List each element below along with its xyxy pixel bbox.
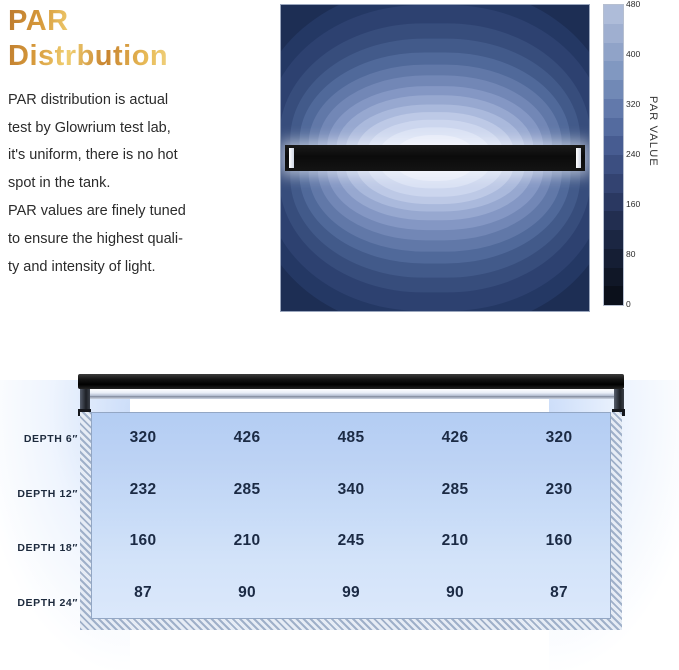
par-value-cell: 230 xyxy=(546,481,573,499)
colorbar-segment xyxy=(604,5,623,24)
par-value-cell: 320 xyxy=(546,429,573,447)
colorbar-segment xyxy=(604,118,623,137)
tank-par-diagram: 3204264854263202322853402852301602102452… xyxy=(0,330,679,660)
colorbar-tick: 240 xyxy=(626,149,640,159)
light-bar-icon xyxy=(285,145,585,171)
par-value-cell: 340 xyxy=(338,481,365,499)
par-value-cell: 99 xyxy=(342,584,360,602)
light-bar-end-cap-left xyxy=(289,148,294,168)
par-value-cell: 90 xyxy=(446,584,464,602)
par-value-cell: 87 xyxy=(134,584,152,602)
colorbar-segment xyxy=(604,249,623,268)
par-value-cell: 160 xyxy=(130,532,157,550)
depth-label-row-3: DEPTH 18″ xyxy=(17,542,78,554)
par-distribution-heatmap xyxy=(280,4,590,312)
colorbar-tick: 320 xyxy=(626,99,640,109)
colorbar-segment xyxy=(604,43,623,62)
par-value-cell: 210 xyxy=(234,532,261,550)
par-value-cell: 87 xyxy=(550,584,568,602)
colorbar-segment xyxy=(604,80,623,99)
depth-label-row-4: DEPTH 24″ xyxy=(17,597,78,609)
colorbar-segment xyxy=(604,230,623,249)
par-value-cell: 160 xyxy=(546,532,573,550)
par-value-cell: 426 xyxy=(442,429,469,447)
depth-label-row-1: DEPTH 6″ xyxy=(24,433,78,445)
colorbar-segment xyxy=(604,286,623,305)
par-value-cell: 426 xyxy=(234,429,261,447)
colorbar-tick: 80 xyxy=(626,249,635,259)
aquarium-light-fixture xyxy=(78,374,624,389)
colorbar-segment xyxy=(604,211,623,230)
colorbar-tick: 0 xyxy=(626,299,631,309)
page-title: PAR Distrbution xyxy=(6,0,268,75)
colorbar-segment xyxy=(604,99,623,118)
colorbar-segment xyxy=(604,155,623,174)
par-distribution-top-section: PAR Distrbution PAR distribution is actu… xyxy=(0,0,679,330)
colorbar-legend: 480400320240160800 PAR VALUE xyxy=(603,4,679,310)
par-value-cell: 320 xyxy=(130,429,157,447)
light-bar-end-cap-right xyxy=(576,148,581,168)
colorbar-gradient xyxy=(603,4,624,306)
par-value-cell: 232 xyxy=(130,481,157,499)
light-fixture-lens xyxy=(88,389,616,396)
colorbar-segment xyxy=(604,136,623,155)
intro-paragraph: PAR distribution is actual test by Glowr… xyxy=(6,75,268,282)
aquarium-tank: 3204264854263202322853402852301602102452… xyxy=(80,412,622,630)
colorbar-tick: 400 xyxy=(626,49,640,59)
par-value-cell: 90 xyxy=(238,584,256,602)
colorbar-segment xyxy=(604,268,623,287)
colorbar-segment xyxy=(604,61,623,80)
par-value-cell: 245 xyxy=(338,532,365,550)
light-fixture-rim xyxy=(88,396,616,399)
par-value-cell: 285 xyxy=(442,481,469,499)
depth-label-row-2: DEPTH 12″ xyxy=(17,488,78,500)
par-value-cell: 210 xyxy=(442,532,469,550)
par-value-grid: 3204264854263202322853402852301602102452… xyxy=(91,412,611,619)
colorbar-segment xyxy=(604,174,623,193)
colorbar-tick: 160 xyxy=(626,199,640,209)
colorbar-segment xyxy=(604,193,623,212)
par-value-cell: 485 xyxy=(338,429,365,447)
colorbar-title: PAR VALUE xyxy=(647,96,659,167)
intro-text-column: PAR Distrbution PAR distribution is actu… xyxy=(6,0,268,282)
par-value-cell: 285 xyxy=(234,481,261,499)
colorbar-tick: 480 xyxy=(626,0,640,9)
colorbar-segment xyxy=(604,24,623,43)
